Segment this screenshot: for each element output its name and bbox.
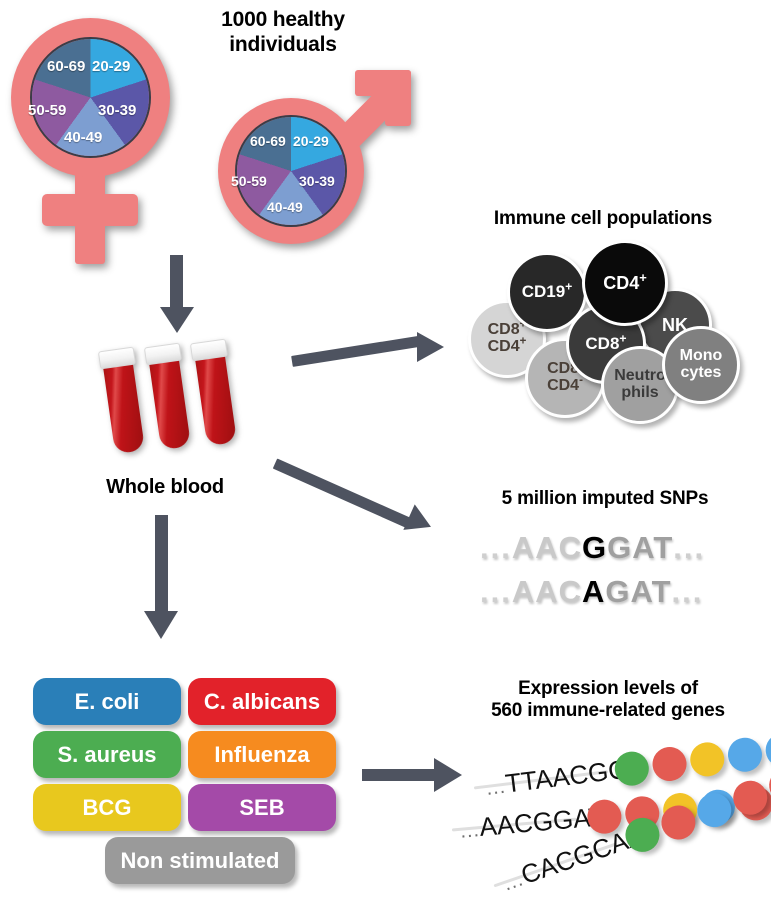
gene-bead bbox=[693, 789, 736, 832]
stimulus-box-s-aureus[interactable]: S. aureus bbox=[33, 731, 181, 778]
snp-sequence-row: ...AACAGAT... bbox=[480, 574, 703, 610]
stimulus-box-bcg[interactable]: BCG bbox=[33, 784, 181, 831]
stimulus-label: SEB bbox=[239, 795, 284, 821]
whole-blood-label: Whole blood bbox=[60, 476, 270, 500]
arrow-blood-to-immune bbox=[292, 330, 452, 378]
gene-bead bbox=[657, 801, 700, 844]
cell-label-line-2: CD4 bbox=[488, 338, 520, 355]
pie-label-20-29: 20-29 bbox=[293, 133, 329, 149]
expression-section-title: Expression levels of 560 immune-related … bbox=[448, 678, 768, 723]
cell-bubble-cd4: CD4+ bbox=[582, 240, 668, 326]
male-symbol: 20-29 30-39 40-49 50-59 60-69 bbox=[205, 70, 420, 245]
stimulus-label: BCG bbox=[83, 795, 132, 821]
snp-suffix: GAT bbox=[607, 530, 673, 565]
pie-label-40-49: 40-49 bbox=[267, 199, 303, 215]
expression-title-line-1: Expression levels of bbox=[448, 678, 768, 700]
stimulus-label: S. aureus bbox=[57, 742, 156, 768]
pie-label-50-59: 50-59 bbox=[28, 102, 66, 119]
stimulus-box-e-coli[interactable]: E. coli bbox=[33, 678, 181, 725]
snp-sequence-row: ...AACGGAT... bbox=[480, 530, 705, 566]
blood-tube-body bbox=[149, 355, 192, 450]
cell-label: CD4 bbox=[603, 273, 639, 293]
gene-bead bbox=[726, 736, 764, 774]
arrow-stimuli-to-expression bbox=[362, 758, 472, 792]
pie-label-40-49: 40-49 bbox=[64, 129, 102, 146]
snp-suffix: GAT bbox=[605, 574, 671, 609]
arrow-cohort-to-blood bbox=[160, 255, 194, 333]
stimulus-label: E. coli bbox=[75, 689, 140, 715]
female-symbol-crossbar bbox=[42, 194, 138, 226]
snp-sequences: ...AACGGAT... ...AACAGAT... bbox=[480, 530, 750, 620]
gene-bead bbox=[688, 740, 726, 778]
cell-label-line-1: Neutro bbox=[614, 367, 666, 384]
snp-highlighted-base: G bbox=[582, 530, 607, 565]
blood-tubes bbox=[110, 340, 280, 470]
stimulus-box-seb[interactable]: SEB bbox=[188, 784, 336, 831]
strand-sequence: TTAACGG bbox=[504, 754, 630, 799]
blood-tube bbox=[101, 347, 146, 460]
snp-prefix: AAC bbox=[512, 574, 582, 609]
cell-label: CD8 bbox=[585, 334, 619, 353]
immune-cell-cluster: CD8+ CD4+ CD8- CD4- CD19+ CD4+ CD8+ NK N… bbox=[455, 238, 745, 418]
page-title-line-2: individuals bbox=[178, 33, 388, 58]
stimulus-label: C. albicans bbox=[204, 689, 320, 715]
cell-label: CD19 bbox=[522, 282, 565, 301]
blood-tube bbox=[147, 343, 192, 456]
snp-prefix: AAC bbox=[512, 530, 582, 565]
pie-label-30-39: 30-39 bbox=[299, 173, 335, 189]
cell-label-line-1: Mono bbox=[680, 347, 723, 364]
blood-tube-body bbox=[195, 351, 238, 446]
snp-prefix-ellipsis: ... bbox=[480, 574, 512, 609]
snp-section-title: 5 million imputed SNPs bbox=[450, 488, 760, 510]
page-title-line-1: 1000 healthy bbox=[178, 8, 388, 33]
pie-label-60-69: 60-69 bbox=[47, 58, 85, 75]
strand-ellipsis: ... bbox=[459, 819, 481, 843]
pie-label-50-59: 50-59 bbox=[231, 173, 267, 189]
blood-tube bbox=[193, 339, 238, 452]
snp-suffix-ellipsis: ... bbox=[672, 574, 704, 609]
arrow-blood-to-stimuli bbox=[142, 515, 182, 643]
arrow-blood-to-snp bbox=[275, 448, 450, 543]
cell-label-line-1: CD8 bbox=[488, 321, 520, 338]
stimulus-label: Influenza bbox=[214, 742, 309, 768]
stimulus-box-non-stimulated[interactable]: Non stimulated bbox=[105, 837, 295, 884]
pie-label-60-69: 60-69 bbox=[250, 133, 286, 149]
page-title: 1000 healthy individuals bbox=[178, 8, 388, 58]
stimulus-label: Non stimulated bbox=[121, 848, 280, 874]
snp-highlighted-base: A bbox=[582, 574, 605, 609]
stimulus-box-influenza[interactable]: Influenza bbox=[188, 731, 336, 778]
male-symbol-arrow-head-leg-2 bbox=[385, 70, 411, 126]
pie-label-30-39: 30-39 bbox=[98, 102, 136, 119]
expression-title-line-2: 560 immune-related genes bbox=[448, 700, 768, 722]
pie-label-20-29: 20-29 bbox=[92, 58, 130, 75]
stimulus-box-c-albicans[interactable]: C. albicans bbox=[188, 678, 336, 725]
cell-label-line-2: CD4 bbox=[547, 377, 579, 394]
immune-section-title: Immune cell populations bbox=[438, 208, 768, 230]
cell-bubble-monocytes: Mono cytes bbox=[662, 326, 740, 404]
female-symbol: 20-29 30-39 40-49 50-59 60-69 bbox=[8, 14, 188, 264]
stimuli-panel: E. coli C. albicans S. aureus Influenza … bbox=[33, 678, 343, 898]
cell-label-line-2: phils bbox=[621, 384, 658, 401]
snp-suffix-ellipsis: ... bbox=[673, 530, 705, 565]
strand-ellipsis: ... bbox=[485, 776, 507, 800]
cell-label-line-2: cytes bbox=[681, 364, 722, 381]
expression-strands: ...TTAACGG ...AACGGAT ...CACGCAA bbox=[460, 740, 771, 910]
snp-prefix-ellipsis: ... bbox=[480, 530, 512, 565]
blood-tube-body bbox=[103, 359, 146, 454]
gene-bead bbox=[764, 731, 771, 769]
gene-bead bbox=[651, 745, 689, 783]
